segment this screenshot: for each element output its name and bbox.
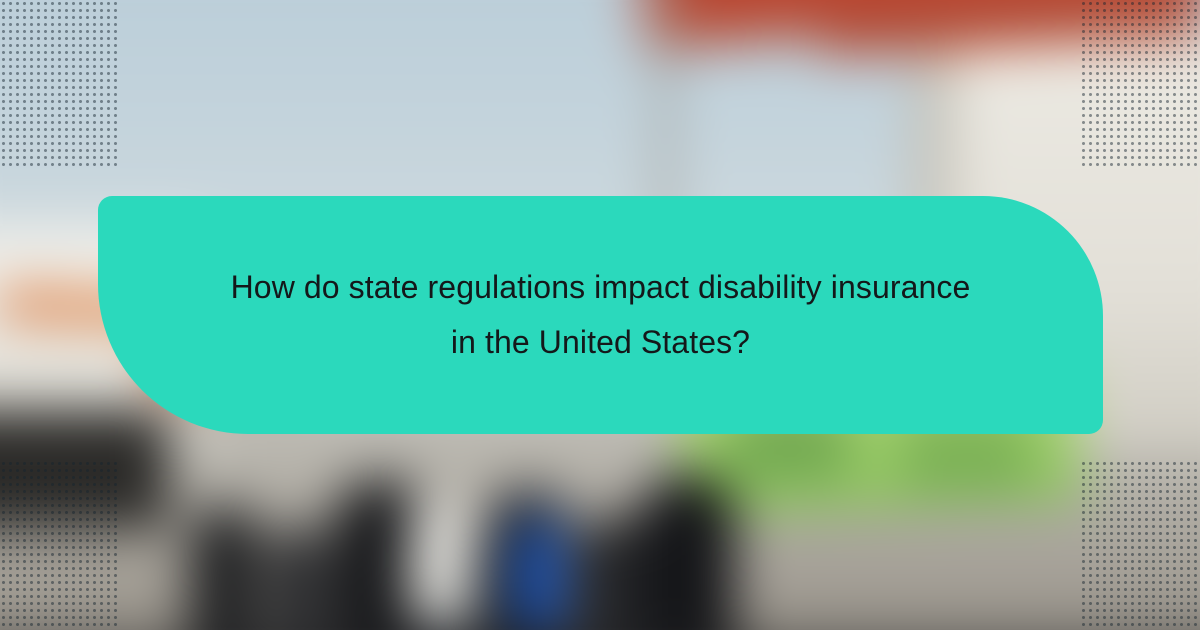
halftone-dots-top-right (1080, 0, 1200, 170)
halftone-dots-bottom-right (1080, 460, 1200, 630)
crowd-blue-shirt-shape (515, 520, 563, 630)
crowd-white-shirt-shape (410, 500, 470, 620)
headline-text: How do state regulations impact disabili… (221, 260, 981, 370)
headline-card: How do state regulations impact disabili… (98, 196, 1103, 434)
bottom-vignette (0, 620, 1200, 630)
crowd-silhouette (640, 475, 735, 630)
halftone-dots-bottom-left (0, 460, 120, 630)
halftone-dots-top-left (0, 0, 120, 170)
crowd-silhouette (270, 525, 330, 630)
crowd-silhouette (190, 505, 260, 630)
social-card-canvas: How do state regulations impact disabili… (0, 0, 1200, 630)
